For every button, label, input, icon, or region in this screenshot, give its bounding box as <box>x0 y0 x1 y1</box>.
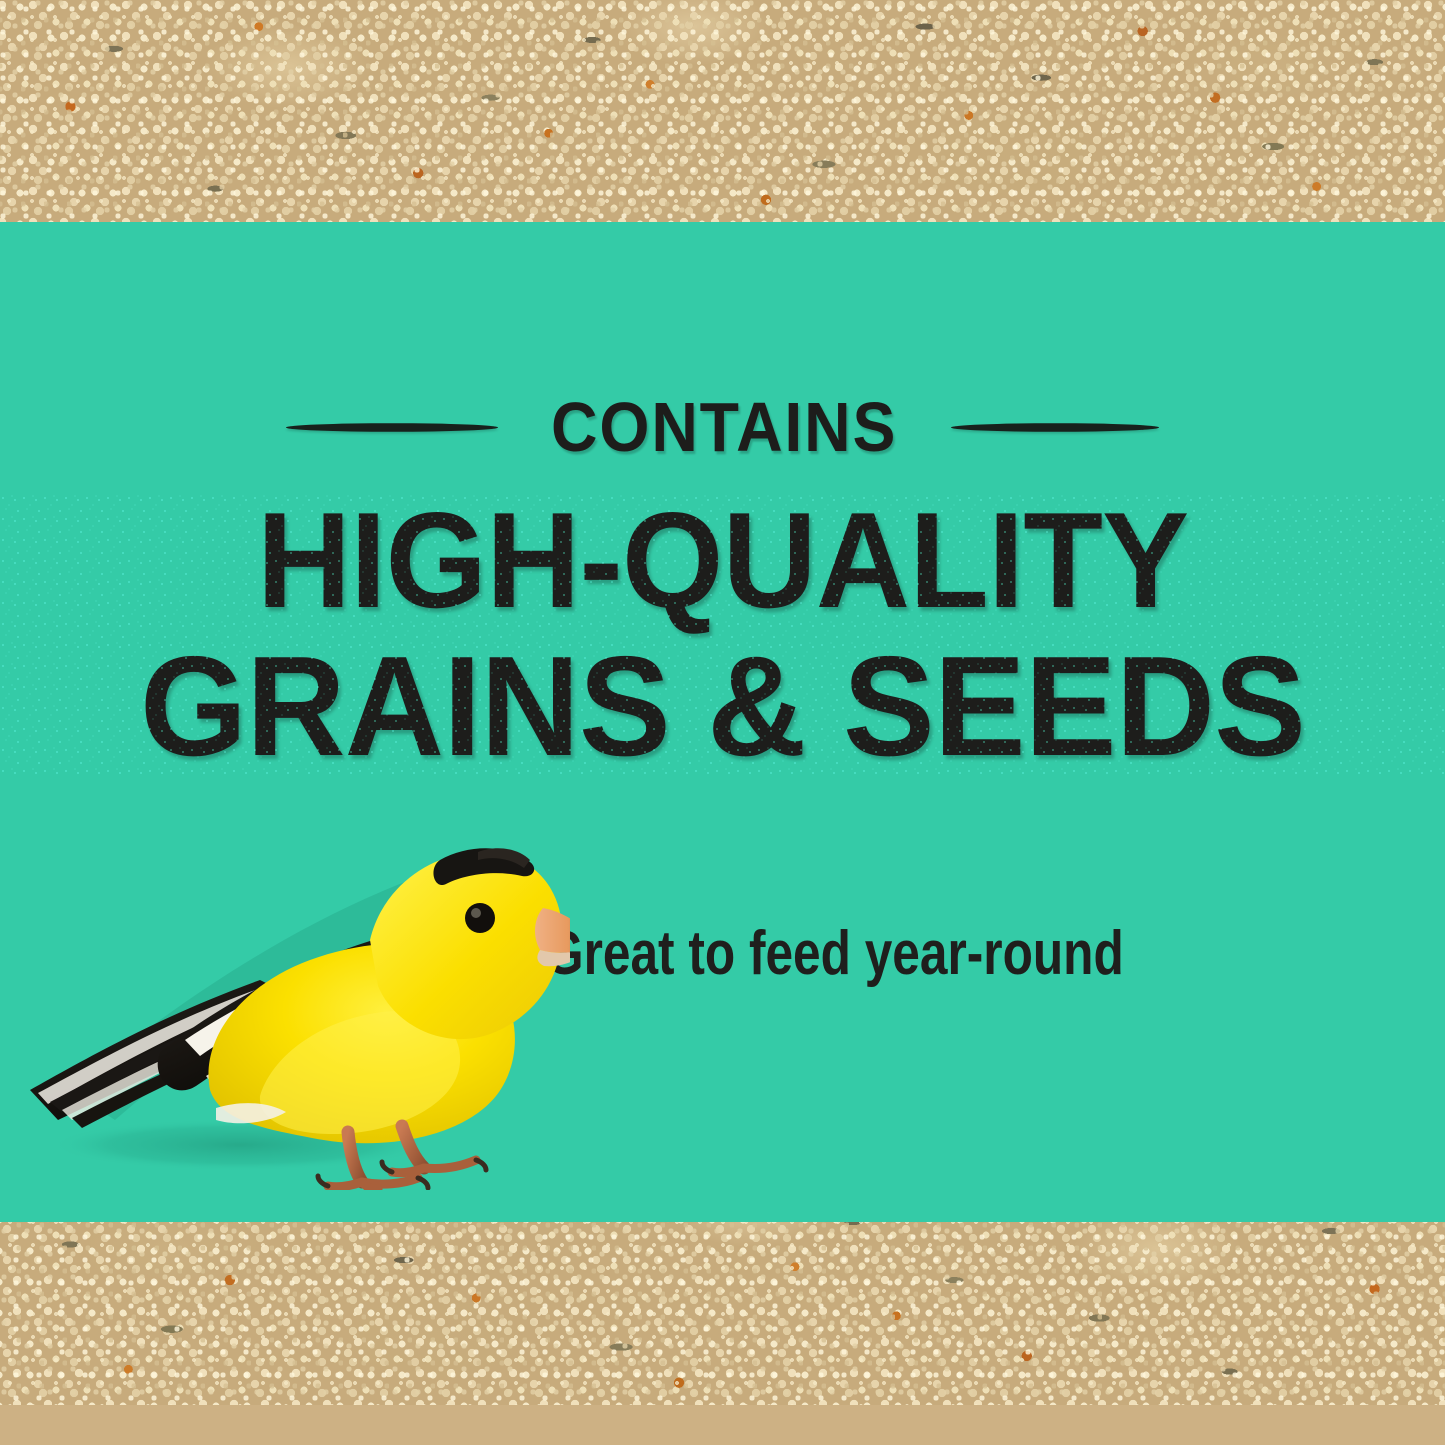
bird-head <box>370 848 570 1039</box>
product-feature-panel: CONTAINS HIGH-QUALITY GRAINS & SEEDS Gre… <box>0 0 1445 1445</box>
headline: HIGH-QUALITY GRAINS & SEEDS <box>0 494 1445 776</box>
goldfinch-illustration <box>10 790 570 1190</box>
subtitle: Great to feed year-round <box>545 918 1124 989</box>
headline-line-1: HIGH-QUALITY <box>29 494 1416 627</box>
dash-rule-right-icon <box>951 423 1159 432</box>
birdseed-texture-image-bottom <box>0 1222 1445 1405</box>
eyebrow-label: CONTAINS <box>551 392 897 462</box>
seed-texture-band-top <box>0 0 1445 222</box>
dash-rule-left-icon <box>286 423 498 432</box>
seed-texture-band-bottom <box>0 1222 1445 1445</box>
eyebrow-row: CONTAINS <box>0 392 1445 462</box>
birdseed-texture-image-top <box>0 0 1445 222</box>
headline-line-2: GRAINS & SEEDS <box>22 637 1424 776</box>
headline-block: HIGH-QUALITY GRAINS & SEEDS <box>0 494 1445 776</box>
